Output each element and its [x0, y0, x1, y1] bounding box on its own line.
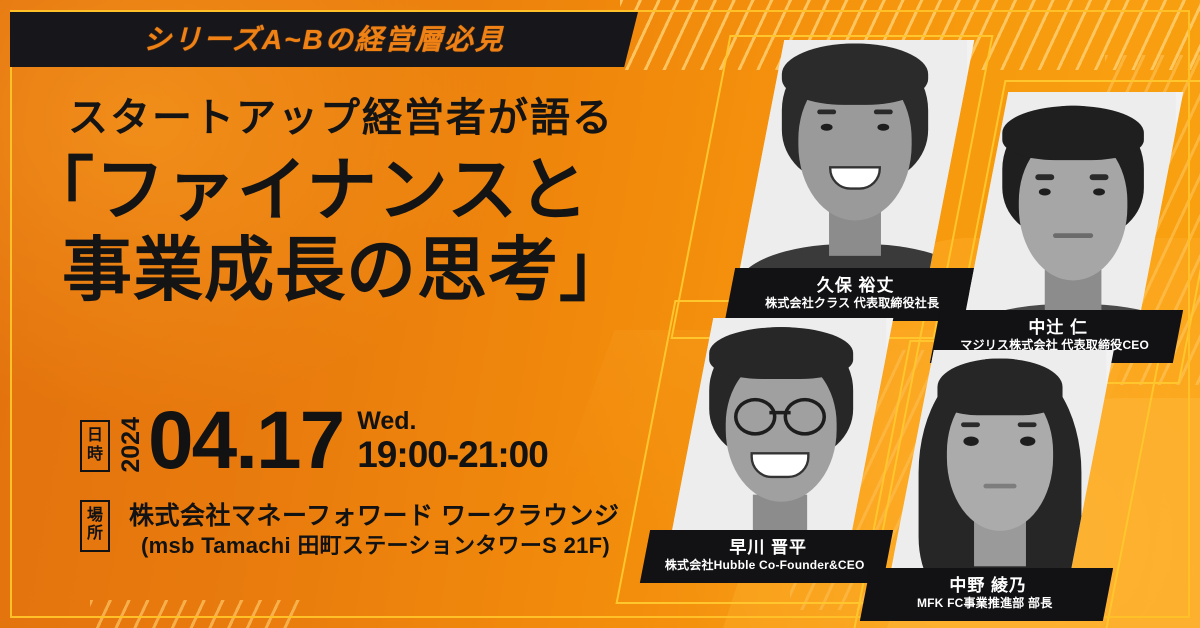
speaker-name-4: 中野 綾乃 — [881, 575, 1096, 596]
event-time-column: Wed. 19:00-21:00 — [357, 409, 548, 473]
speaker-card-1: 久保 裕丈 株式会社クラス 代表取締役社長 — [760, 40, 950, 290]
venue-label-char-2: 所 — [87, 525, 103, 543]
speaker-portrait-1 — [743, 40, 967, 290]
datetime-label-char-1: 日 — [87, 427, 103, 445]
event-time-range: 19:00-21:00 — [357, 436, 548, 473]
speaker-card-4: 中野 綾乃 MFK FC事業推進部 部長 — [910, 350, 1090, 595]
speaker-photo-2 — [962, 92, 1184, 332]
speaker-nameplate-4: 中野 綾乃 MFK FC事業推進部 部長 — [860, 568, 1113, 621]
event-year: 2024 — [119, 417, 144, 473]
datetime-block: 日 時 2024 04.17 Wed. 19:00-21:00 — [80, 405, 548, 479]
speaker-title-3: 株式会社Hubble Co-Founder&CEO — [657, 558, 872, 574]
speaker-portrait-2 — [969, 92, 1176, 332]
speaker-photo-1 — [736, 40, 975, 290]
venue-block: 場 所 株式会社マネーフォワード ワークラウンジ (msb Tamachi 田町… — [80, 500, 619, 561]
speaker-photo-4 — [886, 350, 1114, 595]
headline-line-1: 「ファイナンスと — [0, 152, 660, 228]
event-poster: シリーズA~Bの経営層必見 スタートアップ経営者が語る 「ファイナンスと 事業成… — [0, 0, 1200, 628]
event-date: 04.17 — [148, 405, 343, 477]
speaker-nameplate-3: 早川 晋平 株式会社Hubble Co-Founder&CEO — [640, 530, 893, 583]
headline-subtitle: スタートアップ経営者が語る — [22, 96, 660, 140]
speaker-portrait-3 — [674, 318, 886, 558]
speaker-name-1: 久保 裕丈 — [746, 275, 966, 296]
venue-name: 株式会社マネーフォワード ワークラウンジ — [129, 500, 619, 532]
event-day-of-week: Wed. — [357, 409, 548, 434]
speaker-name-2: 中辻 仁 — [951, 317, 1166, 338]
venue-label-box: 場 所 — [80, 500, 110, 552]
eyeglasses-icon — [734, 398, 826, 429]
ribbon-label: シリーズA~Bの経営層必見 — [143, 26, 504, 54]
speaker-card-2: 中辻 仁 マジリス株式会社 代表取締役CEO — [985, 92, 1160, 332]
speaker-name-3: 早川 晋平 — [661, 537, 876, 558]
speaker-title-1: 株式会社クラス 代表取締役社長 — [742, 296, 962, 312]
headline-block: スタートアップ経営者が語る 「ファイナンスと 事業成長の思考」 — [0, 96, 660, 307]
header-ribbon: シリーズA~Bの経営層必見 — [10, 12, 638, 67]
speaker-photo-3 — [667, 318, 894, 558]
datetime-label-char-2: 時 — [87, 446, 103, 464]
venue-label-char-1: 場 — [87, 507, 103, 525]
speaker-card-3: 早川 晋平 株式会社Hubble Co-Founder&CEO — [690, 318, 870, 558]
datetime-label-box: 日 時 — [80, 420, 110, 472]
venue-text-block: 株式会社マネーフォワード ワークラウンジ (msb Tamachi 田町ステーシ… — [129, 500, 619, 561]
speaker-portrait-4 — [894, 350, 1106, 595]
headline-line-2: 事業成長の思考」 — [0, 232, 660, 308]
venue-address: (msb Tamachi 田町ステーションタワーS 21F) — [129, 532, 619, 561]
hatch-pattern-bottom-left — [90, 600, 300, 628]
speaker-title-4: MFK FC事業推進部 部長 — [877, 596, 1092, 612]
